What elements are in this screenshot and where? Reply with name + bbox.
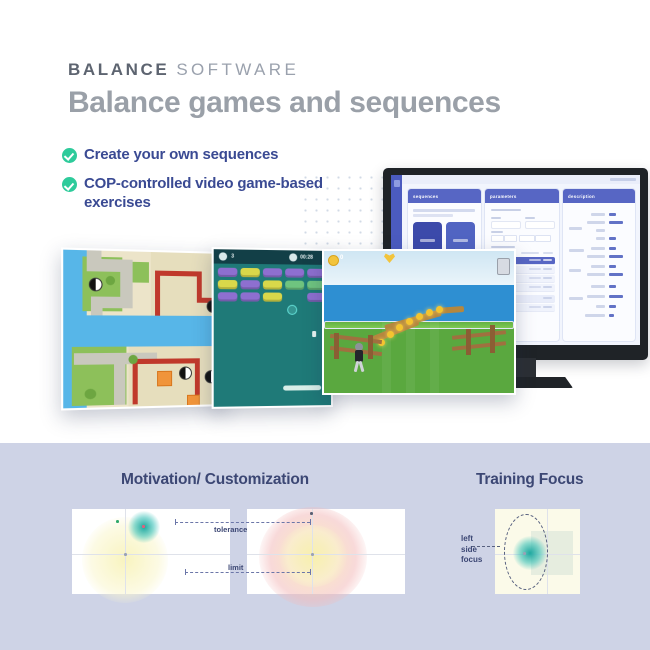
panel-header: description [563,189,635,203]
list-item: Create your own sequences [62,146,352,164]
property-value [609,295,623,298]
score-value: 3 [231,254,234,260]
focus-label-line2: side [461,545,482,556]
focus-label-line1: left [461,534,482,545]
focus-label-line3: focus [461,555,482,566]
property-label [587,255,605,258]
property-value [609,285,616,288]
property-label [591,213,605,216]
tolerance-dimension-line [175,522,310,524]
water-region [63,315,224,347]
field-label [491,231,503,233]
property-label [591,265,605,268]
fence-post [368,335,373,359]
property-label [587,295,605,298]
panel-header: sequences [408,189,481,203]
token-yinyang[interactable] [89,278,103,292]
panel-description-line [413,209,475,212]
menu-icon[interactable] [394,180,400,187]
text-input[interactable] [491,221,521,229]
toggle-button[interactable] [519,235,535,242]
property-value [609,221,623,224]
topbar-label [610,178,636,181]
page-title: Balance games and sequences [68,86,501,120]
cell-value [529,259,541,262]
section-title-training: Training Focus [476,471,583,489]
bullet-text: COP-controlled video game-based exercise… [84,175,352,212]
panel-title: sequences [413,194,438,199]
center-point [311,553,314,556]
clock-icon [289,253,297,261]
property-value [609,237,616,240]
property-label [596,305,605,308]
fence-rail [452,341,506,351]
axis-vertical [312,509,313,594]
brick [240,292,259,301]
limit-dimension-line [185,572,310,574]
check-circle-icon [62,177,77,192]
panel-header: parameters [485,189,559,203]
property-label [591,247,605,250]
game-paddle[interactable] [283,385,321,390]
group-label [569,297,583,300]
cell-value [529,286,541,289]
brand-suffix: SOFTWARE [176,60,299,79]
target-zone-ring [279,525,347,587]
feature-bullet-list: Create your own sequences COP-controlled… [62,146,352,223]
cursor-marker [312,331,316,337]
bush-decoration [106,276,115,286]
training-focus-plot [495,509,580,594]
crate-object[interactable] [187,395,200,407]
center-point [124,553,127,556]
grass-stripe [406,321,415,393]
path-segment [114,353,125,405]
brick [263,268,282,277]
property-label [596,229,605,232]
sky-region [324,251,514,285]
property-value [609,247,616,250]
property-value [609,305,616,308]
toggle-button[interactable] [535,235,551,242]
cell-value [529,277,541,280]
brand-eyebrow: BALANCESOFTWARE [68,60,299,80]
property-value [609,213,616,216]
brick [218,268,238,277]
cell-value [529,268,541,271]
game-screenshot-runner[interactable]: 0 [322,249,516,395]
timer-value: 00:28 [300,255,313,261]
game-ball [287,305,297,315]
cop-blob [513,536,547,570]
panel-title: description [568,194,595,199]
fence-post [334,333,339,359]
dimension-cap [185,569,186,575]
axis-horizontal [72,554,230,555]
game-screenshot-brick-breaker[interactable]: 3 00:28 [212,247,333,409]
brick [218,280,238,289]
axis-horizontal [247,554,405,555]
column-header [521,252,539,254]
character-leg [359,361,365,372]
bullet-text: Create your own sequences [84,146,278,164]
panel-description: description [562,188,636,342]
property-value [609,255,623,258]
data-point [142,525,145,528]
brick [285,268,304,277]
select-input[interactable] [525,221,555,229]
data-point [310,512,313,515]
coin-pickup[interactable] [396,324,403,331]
dimension-cap [310,519,311,525]
data-point [116,520,119,523]
hero-section: BALANCESOFTWARE Balance games and sequen… [0,0,650,443]
app-topbar [402,175,640,184]
brick [240,280,259,289]
property-value [609,314,614,317]
coin-pickup[interactable] [416,313,423,320]
brick [240,268,259,277]
wall-segment [133,359,138,405]
brick [218,292,238,301]
brick [263,280,282,289]
property-label [596,237,605,240]
dimension-cap [175,519,176,525]
game-screenshot-garden-maze[interactable] [61,247,226,410]
limit-label: limit [228,563,243,572]
property-label [585,314,605,317]
axis-vertical [125,509,126,594]
brick-breaker-scene: 3 00:28 [214,249,331,407]
property-label [587,273,605,276]
column-header [543,252,553,254]
brick [285,281,304,290]
sequence-card-label [453,239,468,242]
sequence-card-label [420,239,435,242]
dimension-cap [310,569,311,575]
player-character [354,343,364,371]
coin-counter-icon [328,255,339,266]
wall-segment [133,358,199,364]
field-label [491,217,501,219]
brick [263,293,282,302]
bush-decoration [129,355,138,364]
path-segment [91,296,103,315]
group-label [569,227,582,230]
toggle-button[interactable] [504,235,517,242]
group-label [569,269,581,272]
grass-stripe [430,321,439,393]
marketing-slide: BALANCESOFTWARE Balance games and sequen… [0,0,650,650]
cell-value [529,306,541,309]
cell-value [543,277,552,280]
coin-pickup[interactable] [387,331,394,338]
brand-name: BALANCE [68,60,169,79]
coin-pickup[interactable] [406,318,413,325]
crate-object[interactable] [157,371,172,387]
fence-post [490,325,495,353]
property-value [609,273,623,276]
garden-maze-scene [63,250,224,409]
runner-scene: 0 [324,251,514,393]
wall-segment [195,358,200,398]
game-hud: 3 00:28 [214,249,331,265]
field-label [525,217,535,219]
fence-rail [452,330,506,340]
focus-label: left side focus [461,534,482,566]
property-label [591,285,605,288]
wall-segment [155,271,160,316]
form-section-label [491,209,521,211]
cell-value [543,306,552,309]
coin-pickup[interactable] [436,306,443,313]
panel-description-line [413,214,453,217]
coin-pickup[interactable] [426,309,433,316]
property-value [609,265,616,268]
avatar [497,258,510,275]
list-item: COP-controlled video game-based exercise… [62,175,352,212]
score-icon [219,252,227,260]
wall-segment [155,271,201,277]
section-title-motivation: Motivation/ Customization [121,471,309,489]
fence-post [466,329,471,355]
check-circle-icon [62,148,77,163]
property-label [587,221,605,224]
cell-value [543,268,552,271]
cell-value [543,259,552,262]
cell-value [543,286,552,289]
center-point [523,552,526,555]
toggle-button[interactable] [491,235,504,242]
group-label [569,249,584,252]
cell-value [543,297,552,300]
tolerance-label: tolerance [214,525,247,534]
panel-title: parameters [490,194,517,199]
coin-count: 0 [340,255,343,261]
